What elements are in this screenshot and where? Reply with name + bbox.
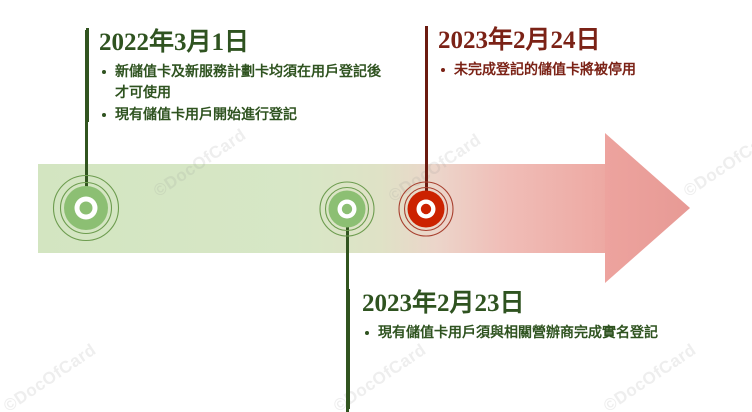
timeline-marker-1[interactable]	[49, 171, 123, 245]
event-bullet-item: 現有儲值卡用戶開始進行登記	[99, 104, 383, 125]
watermark: ©DocOfCard	[0, 340, 100, 412]
event-date-heading: 2023年2月23日	[362, 289, 698, 319]
timeline-infographic: ©DocOfCard ©DocOfCard ©DocOfCard ©DocOfC…	[0, 0, 752, 412]
event-bullet-list: 新儲值卡及新服務計劃卡均須在用戶登記後才可使用 現有儲值卡用戶開始進行登記	[99, 61, 383, 125]
event-accent-bar	[425, 26, 428, 118]
event-date-heading: 2023年2月24日	[438, 26, 654, 56]
watermark: ©DocOfCard	[150, 125, 250, 202]
timeline-marker-2[interactable]	[316, 178, 378, 240]
event-accent-bar	[347, 289, 350, 409]
event-bullet-item: 未完成登記的儲值卡將被停用	[438, 59, 654, 80]
timeline-arrowhead	[605, 133, 690, 283]
event-bullet-list: 未完成登記的儲值卡將被停用	[438, 59, 654, 80]
event-bullet-list: 現有儲值卡用戶須與相關營辦商完成實名登記	[362, 322, 698, 343]
event-bullet-item: 新儲值卡及新服務計劃卡均須在用戶登記後才可使用	[99, 61, 383, 103]
timeline-marker-3[interactable]	[395, 178, 457, 240]
event-accent-bar	[86, 28, 89, 122]
event-card-2023-02-23: 2023年2月23日 現有儲值卡用戶須與相關營辦商完成實名登記	[347, 289, 698, 344]
event-card-2023-02-24: 2023年2月24日 未完成登記的儲值卡將被停用	[425, 26, 654, 81]
watermark: ©DocOfCard	[680, 125, 752, 202]
event-date-heading: 2022年3月1日	[99, 28, 383, 58]
event-card-2022-03-01: 2022年3月1日 新儲值卡及新服務計劃卡均須在用戶登記後才可使用 現有儲值卡用…	[86, 28, 383, 126]
event-bullet-item: 現有儲值卡用戶須與相關營辦商完成實名登記	[362, 322, 698, 343]
watermark: ©DocOfCard	[600, 340, 700, 412]
